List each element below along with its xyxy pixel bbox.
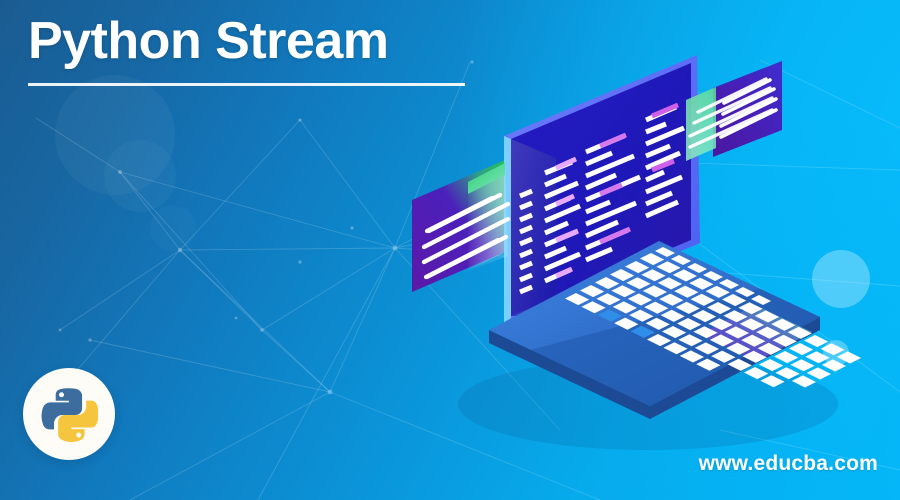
page-title: Python Stream xyxy=(28,10,488,72)
banner-image: Python Stream www.educba.com xyxy=(0,0,900,500)
python-logo-badge xyxy=(23,368,115,460)
title-underline xyxy=(28,83,465,86)
python-icon xyxy=(40,385,98,443)
title-block: Python Stream xyxy=(28,10,488,86)
site-url: www.educba.com xyxy=(699,452,878,476)
